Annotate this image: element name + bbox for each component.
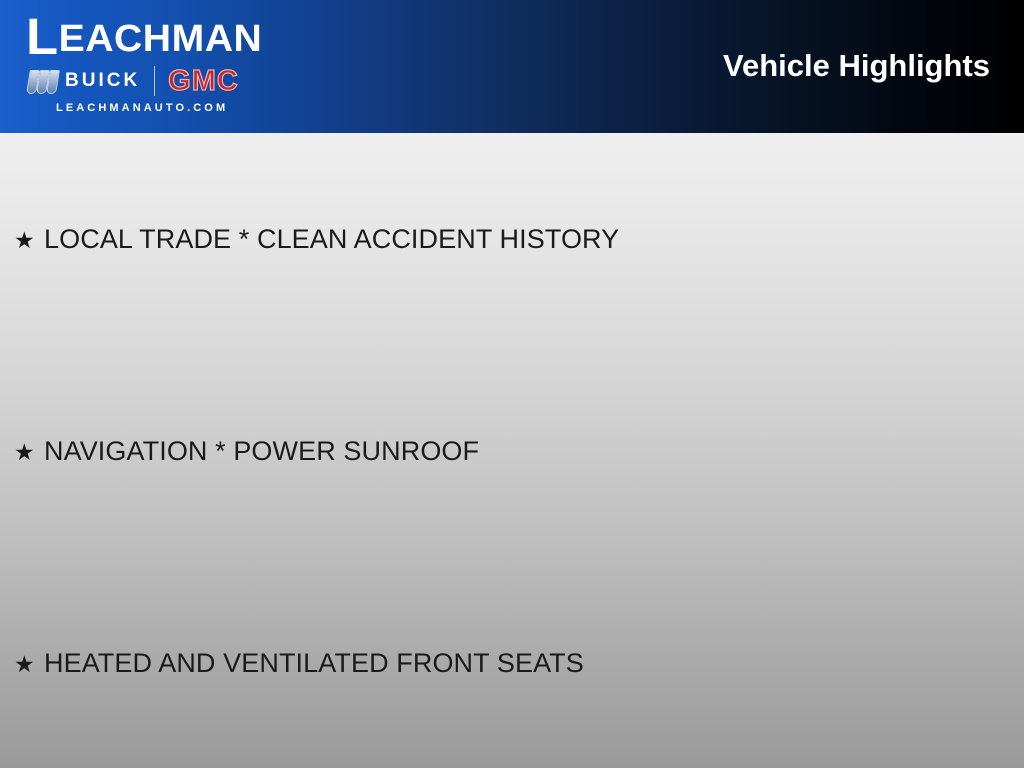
- vehicle-highlights-slide: LEACHMAN BUICK GMC LEACHMANAUTO.COM Vehi…: [0, 0, 1024, 768]
- dealer-logo[interactable]: LEACHMAN BUICK GMC LEACHMANAUTO.COM: [18, 14, 308, 122]
- list-item: ★ LOCAL TRADE * CLEAN ACCIDENT HISTORY: [14, 223, 619, 255]
- header-bar: LEACHMAN BUICK GMC LEACHMANAUTO.COM Vehi…: [0, 0, 1024, 133]
- page-title: Vehicle Highlights: [723, 48, 990, 84]
- list-item: ★ HEATED AND VENTILATED FRONT SEATS: [14, 647, 584, 679]
- buick-wordmark: BUICK: [65, 70, 140, 92]
- list-item: ★ NAVIGATION * POWER SUNROOF: [14, 435, 479, 467]
- dealer-website-url[interactable]: LEACHMANAUTO.COM: [56, 102, 228, 114]
- gmc-wordmark: GMC: [168, 66, 239, 96]
- brand-divider: [154, 66, 155, 96]
- dealer-name-wordmark: LEACHMAN: [26, 14, 309, 60]
- main-content: ★ LOCAL TRADE * CLEAN ACCIDENT HISTORY ★…: [0, 133, 1024, 768]
- buick-tri-shield-icon: [28, 70, 58, 92]
- star-icon: ★: [14, 437, 44, 467]
- highlight-label: HEATED AND VENTILATED FRONT SEATS: [44, 647, 584, 679]
- dealer-name-remainder: EACHMAN: [59, 18, 263, 60]
- star-icon: ★: [14, 225, 44, 255]
- highlight-label: LOCAL TRADE * CLEAN ACCIDENT HISTORY: [44, 223, 619, 255]
- brand-row: BUICK GMC: [28, 64, 303, 98]
- highlight-label: NAVIGATION * POWER SUNROOF: [44, 435, 479, 467]
- dealer-name-initial: L: [26, 8, 59, 65]
- star-icon: ★: [14, 649, 44, 679]
- highlights-list: ★ LOCAL TRADE * CLEAN ACCIDENT HISTORY ★…: [0, 133, 1024, 768]
